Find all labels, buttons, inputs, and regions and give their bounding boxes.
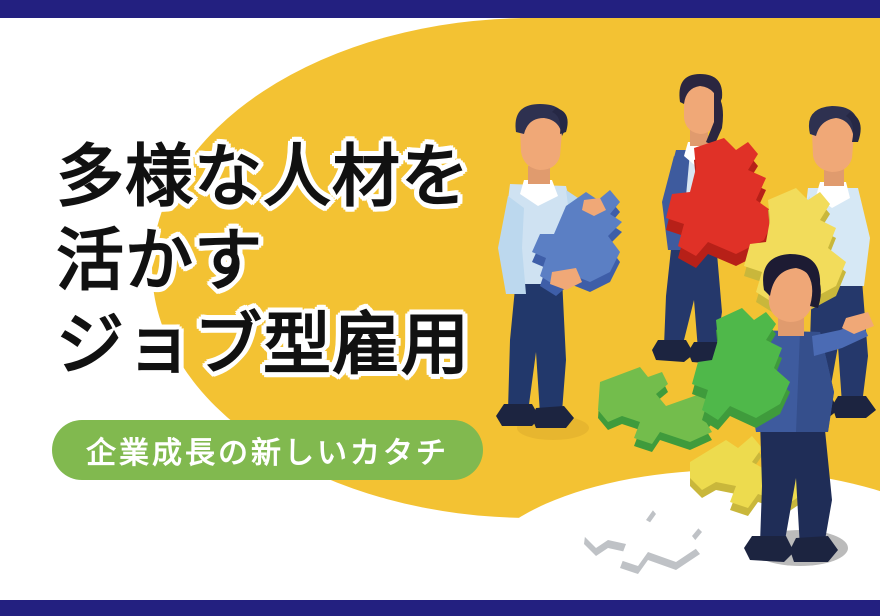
subtitle-badge: 企業成長の新しいカタチ [52, 420, 483, 480]
headline-line-3: ジョブ型雇用 [56, 304, 470, 388]
white-puzzle-piece-ground [584, 494, 702, 574]
banner-root: 多様な人材を 活かす ジョブ型雇用 企業成長の新しいカタチ [0, 0, 880, 616]
subtitle-badge-label: 企業成長の新しいカタチ [86, 428, 449, 472]
headline-line-2: 活かす [56, 220, 470, 304]
headline: 多様な人材を 活かす ジョブ型雇用 [56, 136, 470, 388]
headline-line-1: 多様な人材を [56, 136, 470, 220]
bottom-navy-bar [0, 600, 880, 616]
